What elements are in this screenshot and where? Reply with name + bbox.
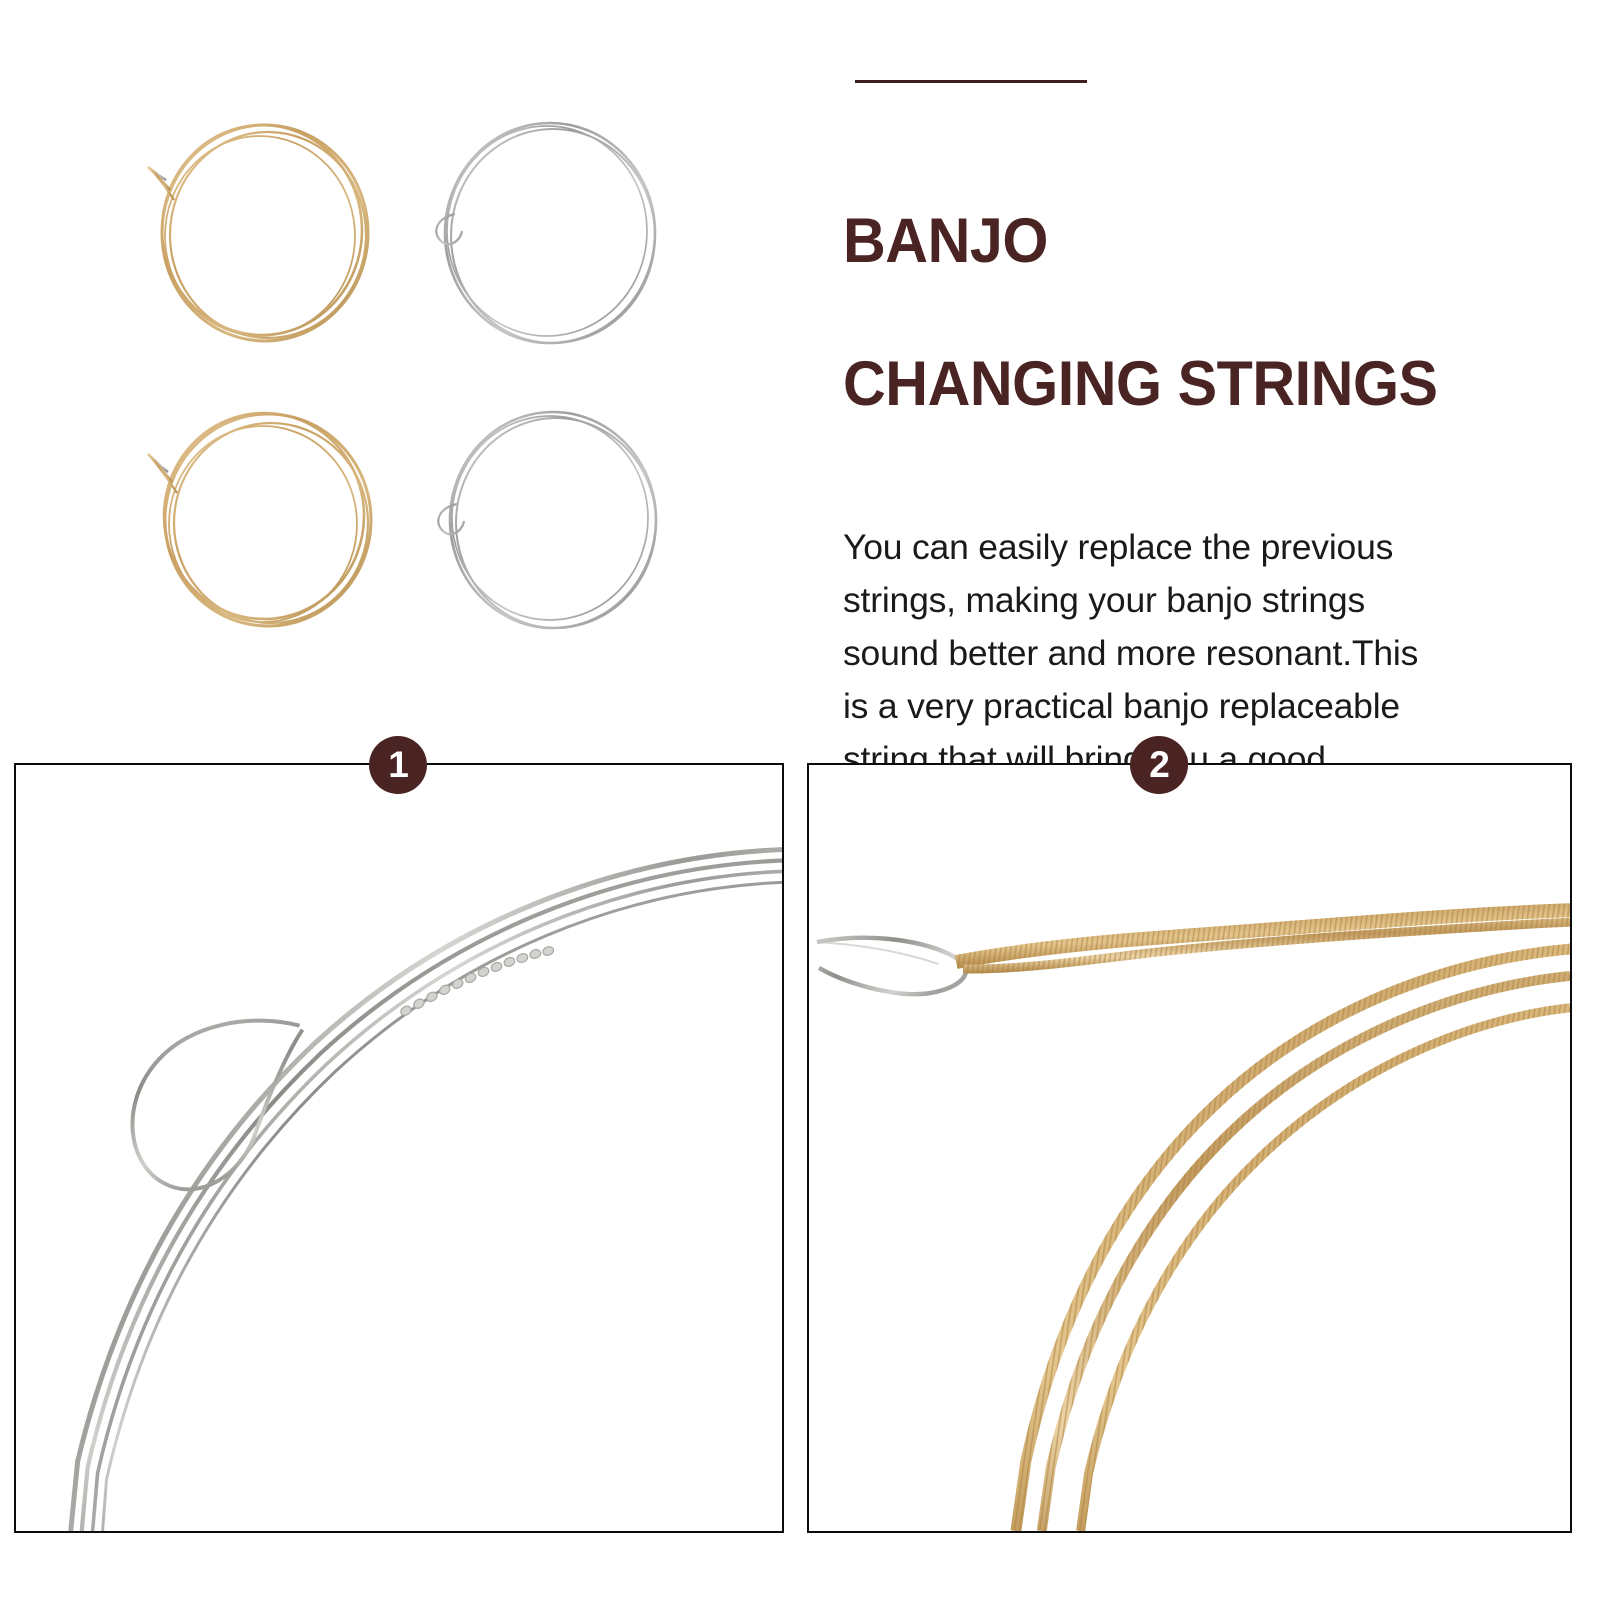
step-2-illustration [809, 765, 1570, 1531]
title-rule [855, 80, 1087, 83]
hero-section: BANJO CHANGING STRINGS You can easily re… [0, 0, 1600, 700]
page-title-line-2: CHANGING STRINGS [843, 349, 1501, 420]
silver-coil-bottom [438, 412, 656, 628]
page-title-line-1: BANJO [843, 206, 1501, 277]
product-photo [110, 100, 730, 660]
step-2-panel [807, 763, 1572, 1533]
hero-text-block: BANJO CHANGING STRINGS You can easily re… [843, 80, 1543, 838]
step-1-illustration [16, 765, 782, 1531]
silver-coil-top [436, 123, 655, 343]
gold-coil-top [148, 125, 368, 341]
step-1-badge: 1 [369, 736, 427, 794]
gold-coil-bottom [148, 413, 371, 626]
gold-string-bundle [1016, 949, 1570, 1531]
step-2-photo [809, 765, 1570, 1531]
step-1-photo [16, 765, 782, 1531]
silver-loop-end [817, 938, 966, 994]
step-1-panel [14, 763, 784, 1533]
product-photo-illustration [110, 100, 730, 660]
step-2-badge: 2 [1130, 736, 1188, 794]
string-loop-end [132, 1021, 302, 1190]
page-title: BANJO CHANGING STRINGS [843, 135, 1501, 491]
